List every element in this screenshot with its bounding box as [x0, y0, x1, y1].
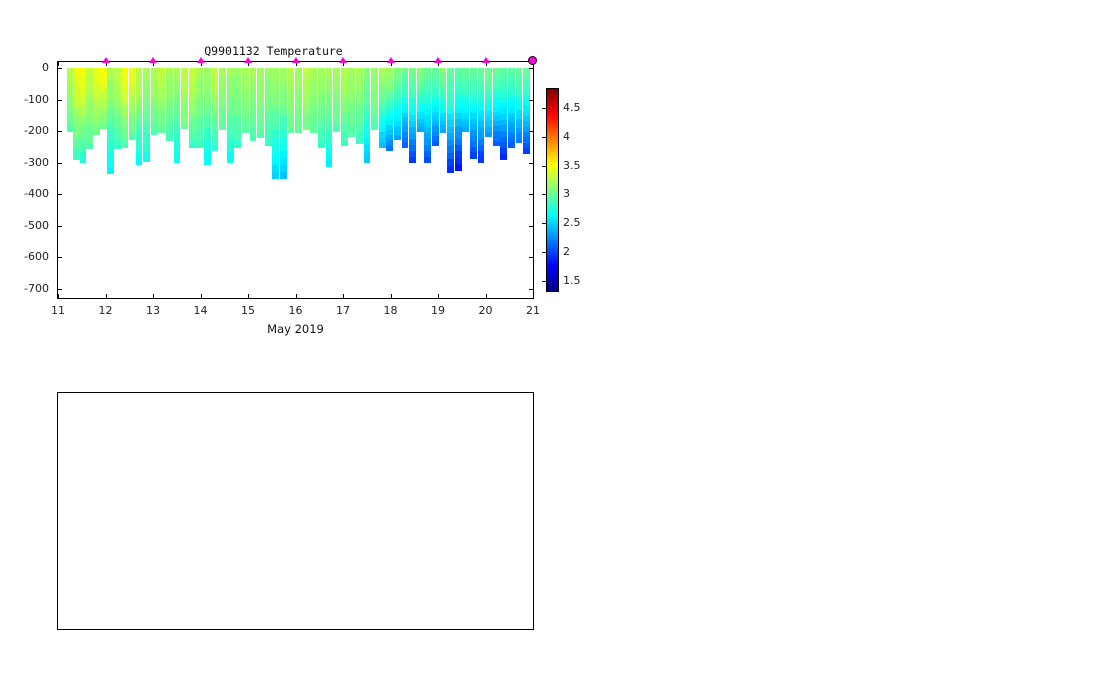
- salinity-section-panel: [0, 0, 1100, 700]
- plot-data-area: [58, 393, 533, 629]
- figure-canvas: 11121314151617181920210-100-200-300-400-…: [0, 0, 1100, 700]
